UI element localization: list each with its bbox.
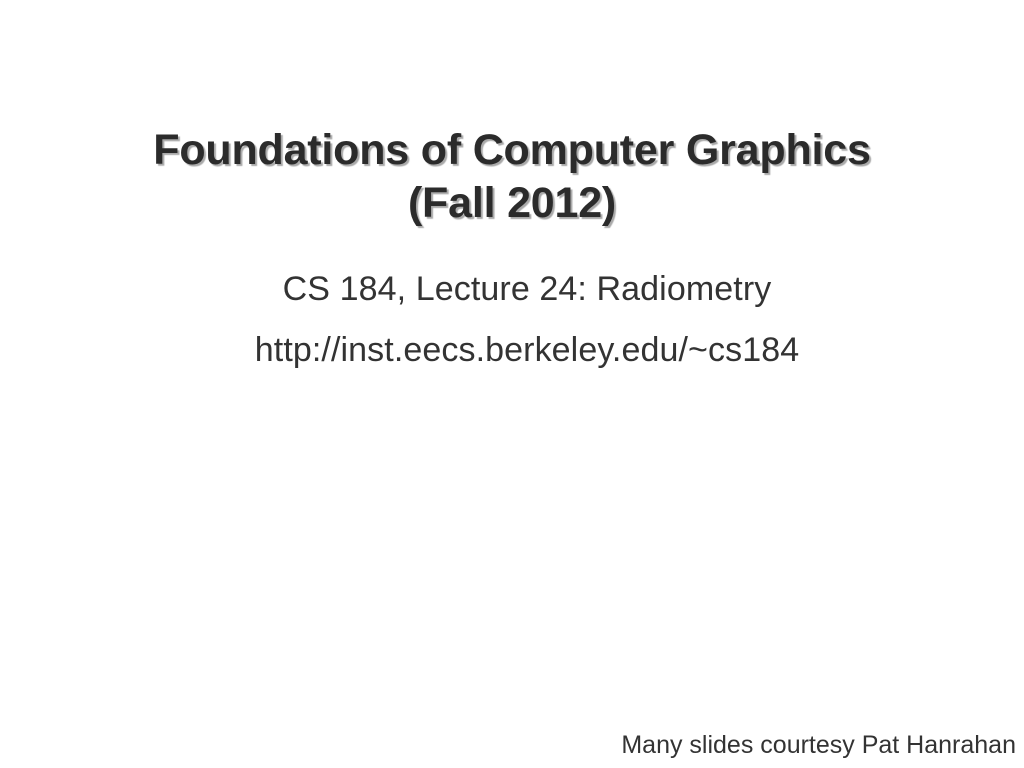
credit-text: Many slides courtesy Pat Hanrahan xyxy=(0,730,1016,760)
presentation-slide: Foundations of Computer Graphics (Fall 2… xyxy=(0,0,1024,768)
slide-body-block: CS 184, Lecture 24: Radiometry http://in… xyxy=(77,266,977,374)
slide-title: Foundations of Computer Graphics (Fall 2… xyxy=(62,124,962,230)
lecture-subtitle: CS 184, Lecture 24: Radiometry xyxy=(77,266,977,313)
course-url[interactable]: http://inst.eecs.berkeley.edu/~cs184 xyxy=(77,327,977,374)
slide-title-block: Foundations of Computer Graphics (Fall 2… xyxy=(62,124,962,230)
slide-credit-block: Many slides courtesy Pat Hanrahan xyxy=(0,730,1016,760)
